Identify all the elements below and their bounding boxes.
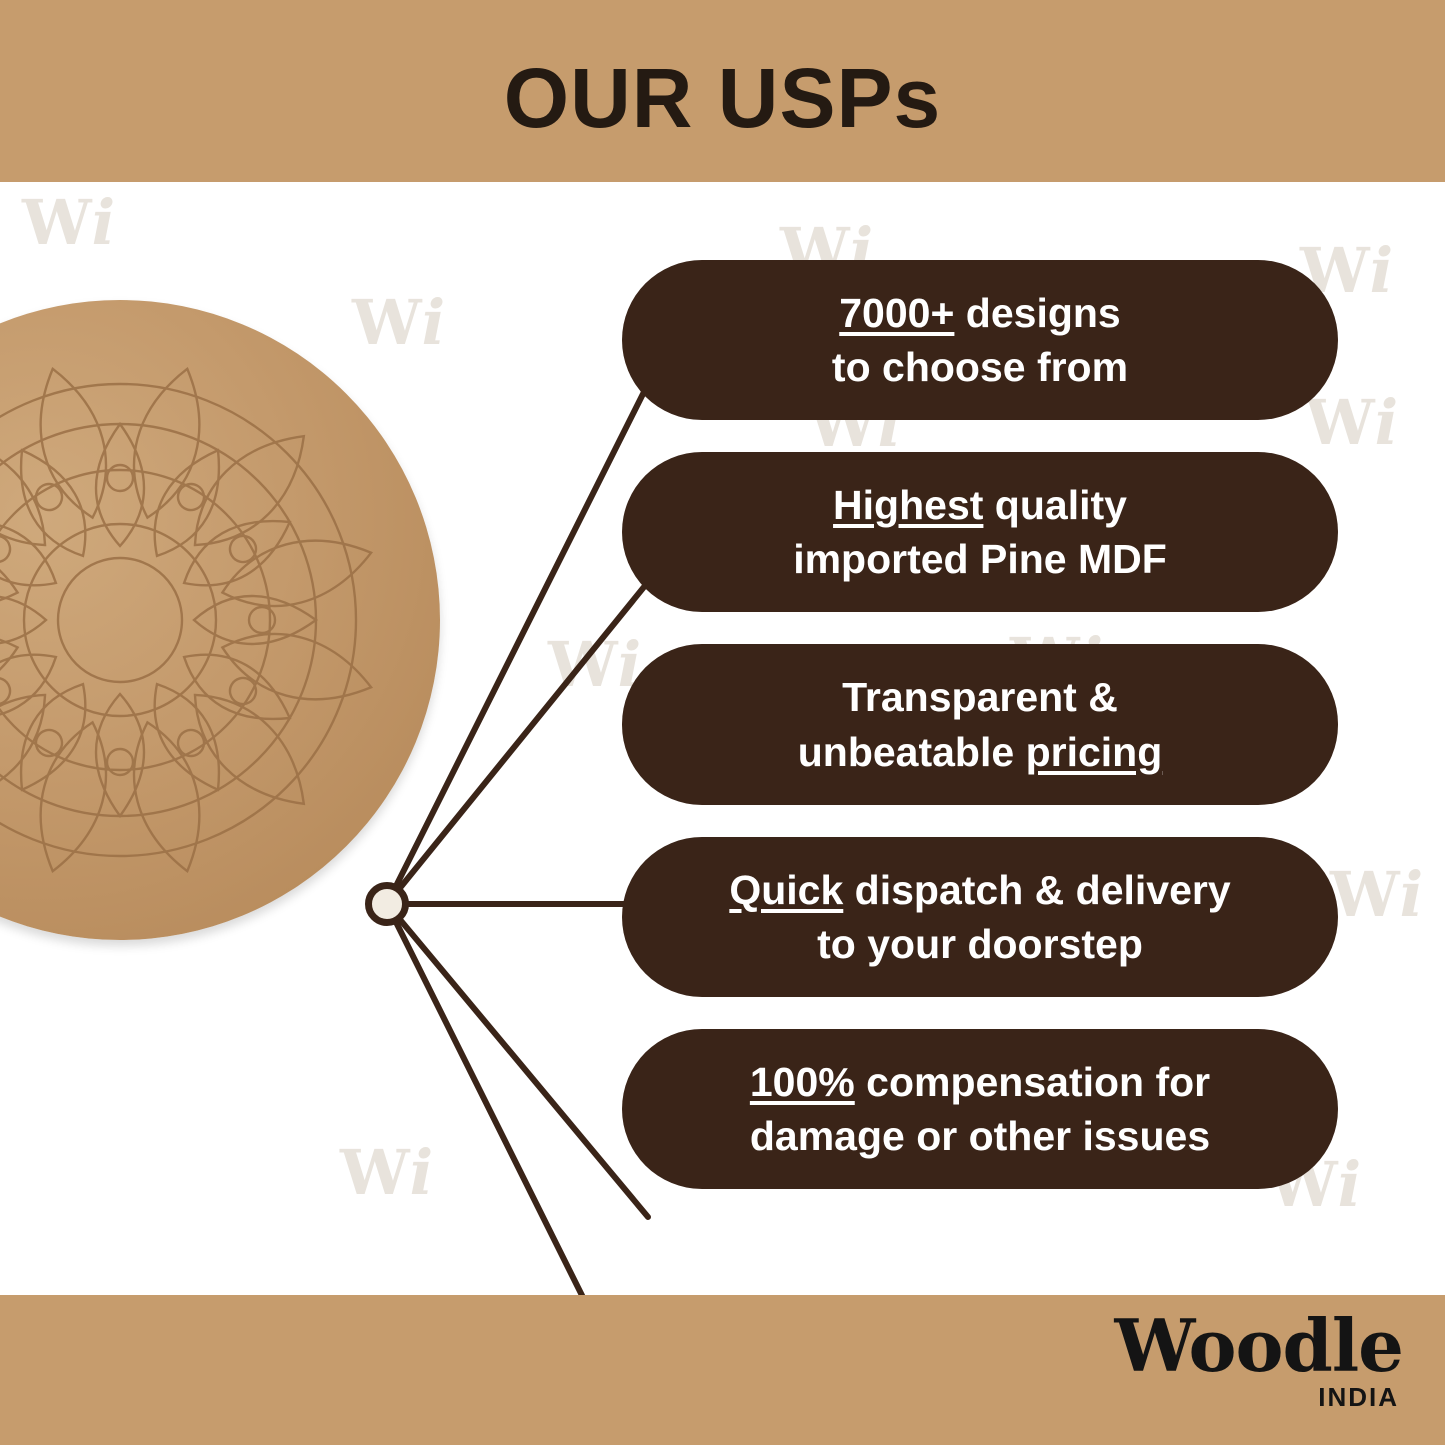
- usp-line-1: Highest quality: [650, 478, 1310, 532]
- diagram-canvas: Wi Wi Wi Wi Wi Wi Wi Wi Wi Wi Wi: [0, 182, 1445, 1295]
- brand-name: Woodle: [1114, 1312, 1403, 1380]
- usp-item-quality[interactable]: Highest quality imported Pine MDF: [622, 452, 1338, 612]
- usp-line-2: to choose from: [650, 340, 1310, 394]
- usp-line-1: 100% compensation for: [650, 1055, 1310, 1109]
- usp-line-1: 7000+ designs: [650, 286, 1310, 340]
- usp-line-2: to your doorstep: [650, 917, 1310, 971]
- usp-item-dispatch[interactable]: Quick dispatch & delivery to your doorst…: [622, 837, 1338, 997]
- usp-item-pricing[interactable]: Transparent & unbeatable pricing: [622, 644, 1338, 804]
- usp-item-designs[interactable]: 7000+ designs to choose from: [622, 260, 1338, 420]
- connector-hub: [365, 882, 409, 926]
- usp-line-2: damage or other issues: [650, 1109, 1310, 1163]
- brand-logo: Woodle INDIA: [1114, 1312, 1403, 1413]
- usp-item-compensation[interactable]: 100% compensation for damage or other is…: [622, 1029, 1338, 1189]
- usp-line-2: unbeatable pricing: [650, 725, 1310, 779]
- usp-line-1: Transparent &: [650, 670, 1310, 724]
- usp-line-1: Quick dispatch & delivery: [650, 863, 1310, 917]
- usp-list: 7000+ designs to choose from Highest qua…: [622, 260, 1338, 1221]
- usp-infographic-page: OUR USPs Wi Wi Wi Wi Wi Wi Wi Wi Wi Wi W…: [0, 0, 1445, 1445]
- usp-line-2: imported Pine MDF: [650, 532, 1310, 586]
- page-title: OUR USPs: [0, 56, 1445, 140]
